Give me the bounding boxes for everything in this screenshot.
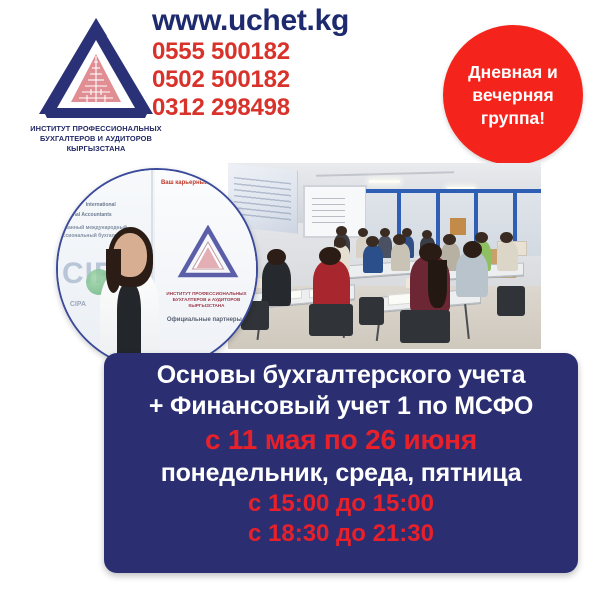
chair-5 <box>497 286 525 316</box>
phone-number-1[interactable]: 0555 500182 <box>152 38 442 66</box>
poster-canvas: ИНСТИТУТ ПРОФЕССИОНАЛЬНЫХ БУХГАЛТЕРОВ и … <box>0 0 600 600</box>
banner-partner-text: Официальные партнеры <box>167 317 242 323</box>
phone-number-3[interactable]: 0312 298498 <box>152 94 442 122</box>
chair-2 <box>309 304 353 336</box>
ceiling-light-1 <box>369 180 400 183</box>
website-url[interactable]: www.uchet.kg <box>152 4 442 38</box>
course-time-daytime: с 15:00 до 15:00 <box>104 489 578 519</box>
logo-caption: ИНСТИТУТ ПРОФЕССИОНАЛЬНЫХ БУХГАЛТЕРОВ и … <box>16 124 176 154</box>
cipa-banner-text-2: onal Accountants <box>70 212 112 219</box>
whiteboard-writing <box>312 198 345 223</box>
course-info-panel: Основы бухгалтерского учета + Финансовый… <box>104 353 578 573</box>
person-mid-6 <box>497 241 517 271</box>
wooden-door <box>450 218 466 234</box>
cipa-banner-text-1: International <box>86 202 116 209</box>
chair-3 <box>400 310 450 343</box>
cipa-subtext: CIPA <box>70 301 86 308</box>
logo-caption-line-3: КЫРГЫЗСТАНА <box>16 144 176 154</box>
banner-logo-caption-line-2: БУХГАЛТЕРОВ и АУДИТОРОВ <box>161 297 252 303</box>
contact-block: www.uchet.kg 0555 500182 0502 500182 031… <box>152 4 442 122</box>
student-foreground-1-head <box>267 249 286 266</box>
course-title-line-1: Основы бухгалтерского учета <box>104 360 578 391</box>
student-foreground-2-head <box>319 247 341 266</box>
student-foreground-3-hair <box>428 260 447 308</box>
banner-logo-caption: ИНСТИТУТ ПРОФЕССИОНАЛЬНЫХ БУХГАЛТЕРОВ и … <box>161 291 252 309</box>
logo-caption-line-2: БУХГАЛТЕРОВ и АУДИТОРОВ <box>16 134 176 144</box>
person-mid-3 <box>391 243 410 271</box>
classroom-photo <box>228 163 541 349</box>
speaker-portrait-photo: International onal Accountants ованный м… <box>56 168 258 370</box>
person-mid-1-head <box>334 237 347 247</box>
course-dates: с 11 мая по 26 июня <box>104 422 578 458</box>
phone-number-2[interactable]: 0502 500182 <box>152 66 442 94</box>
course-time-evening: с 18:30 до 21:30 <box>104 519 578 549</box>
badge-line-2: вечерняя <box>472 84 553 107</box>
person-mid-2 <box>363 245 383 273</box>
speaker-hair-side <box>106 249 122 293</box>
student-foreground-4 <box>456 252 487 297</box>
course-days: понедельник, среда, пятница <box>104 458 578 489</box>
banner-headline: Ваш карьерный <box>161 180 208 186</box>
logo-caption-line-1: ИНСТИТУТ ПРОФЕССИОНАЛЬНЫХ <box>16 124 176 134</box>
badge-line-3: группа! <box>481 107 545 130</box>
banner-logo-caption-line-3: КЫРГЫЗСТАНА <box>161 303 252 309</box>
student-foreground-1 <box>262 260 290 307</box>
person-far-1-head <box>336 226 347 236</box>
chair-4 <box>359 297 384 325</box>
student-foreground-4-head <box>463 241 482 258</box>
banner-logo-caption-line-1: ИНСТИТУТ ПРОФЕССИОНАЛЬНЫХ <box>161 291 252 297</box>
course-title-line-2: + Финансовый учет 1 по МСФО <box>104 391 578 422</box>
person-mid-2-head <box>366 236 379 247</box>
triangle-logo-icon <box>35 14 157 122</box>
badge-line-1: Дневная и <box>468 61 558 84</box>
group-schedule-badge: Дневная и вечерняя группа! <box>443 25 583 165</box>
whiteboard <box>303 185 366 237</box>
banner-triangle-logo-icon <box>177 225 239 279</box>
